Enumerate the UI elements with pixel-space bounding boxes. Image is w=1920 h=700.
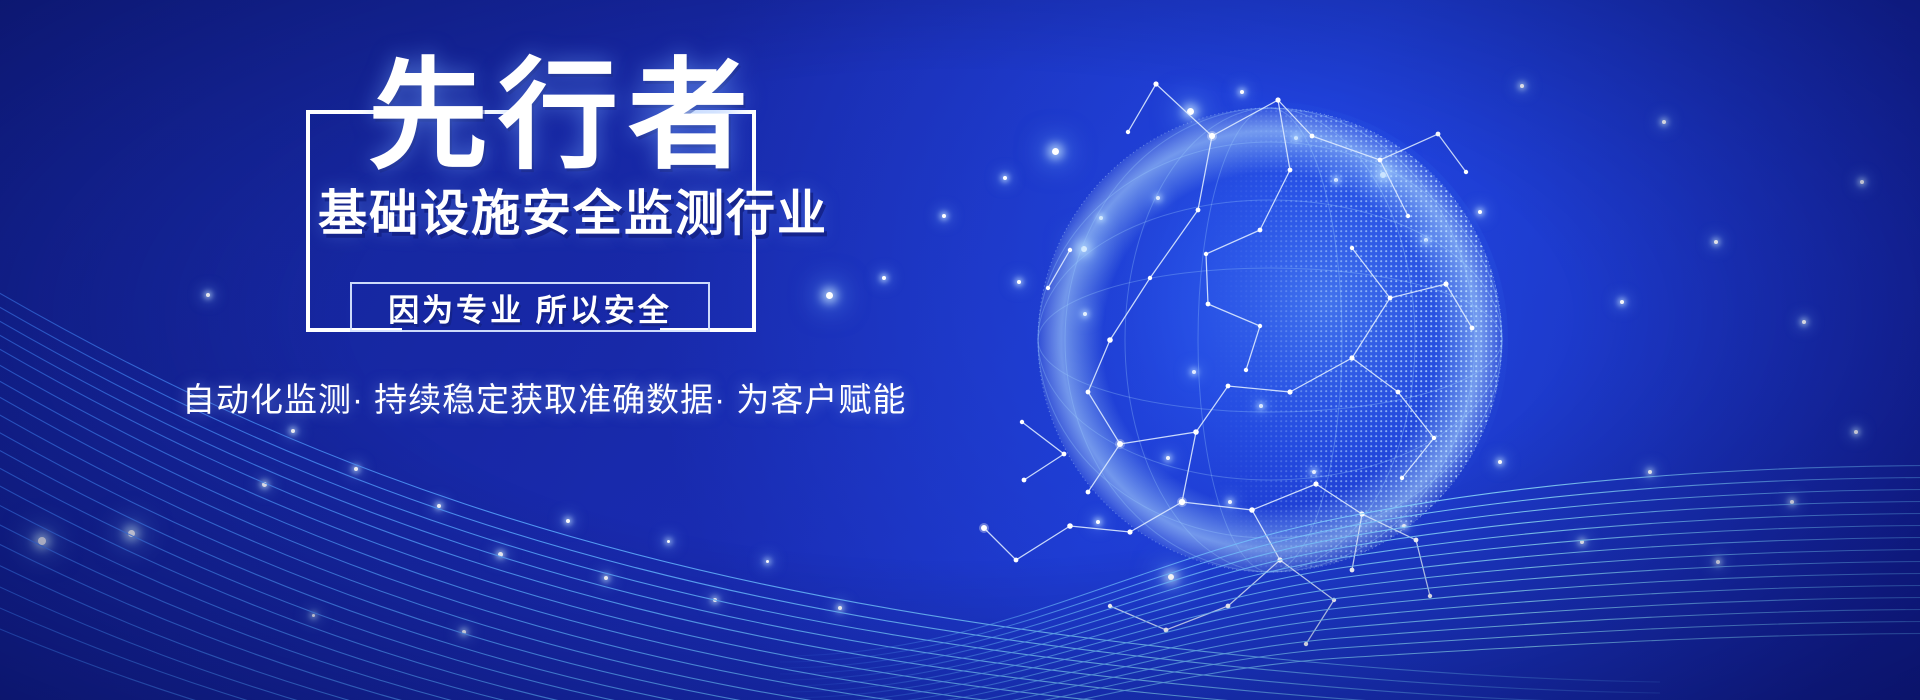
page-title: 先行者	[368, 56, 728, 176]
hero-text-block: 先行者 基础设施安全监测行业 因为专业 所以安全 自动化监测· 持续稳定获取准确…	[0, 0, 960, 520]
tagline-box: 因为专业 所以安全	[350, 282, 710, 332]
hero-description: 自动化监测· 持续稳定获取准确数据· 为客户赋能	[182, 373, 906, 421]
page-subtitle-industry: 基础设施安全监测行业	[318, 190, 768, 239]
hero-banner: 先行者 基础设施安全监测行业 因为专业 所以安全 自动化监测· 持续稳定获取准确…	[0, 0, 1920, 700]
tagline-text: 因为专业 所以安全	[388, 285, 672, 330]
